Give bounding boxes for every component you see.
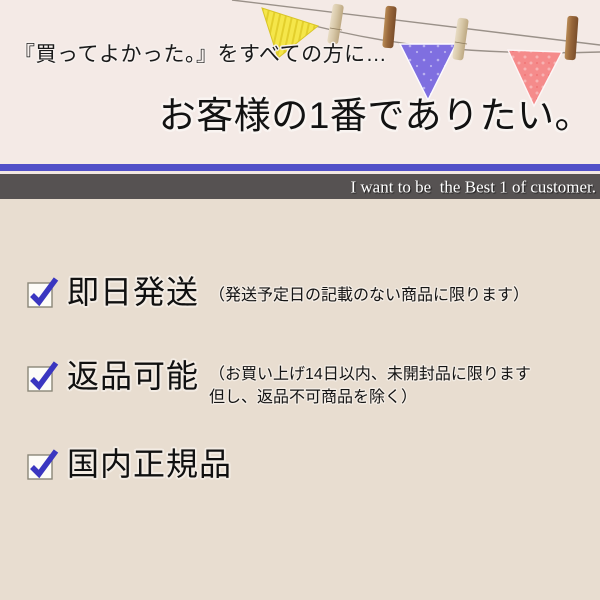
list-item: 即日発送 （発送予定日の記載のない商品に限ります） [28,275,529,311]
policy-label: 国内正規品 [67,447,232,483]
list-item: 返品可能 （お買い上げ14日以内、未開封品に限ります 但し、返品不可商品を除く） [28,359,531,409]
policy-label: 即日発送 [67,275,199,311]
clothespin-icon [327,3,344,44]
hero-banner: 『買ってよかった。』をすべての方に… お客様の1番でありたい。 [0,0,600,164]
policy-label: 返品可能 [67,359,199,395]
checkbox-checked-icon [28,455,54,481]
policy-body: 即日発送 （発送予定日の記載のない商品に限ります） 返品可能 （お買い上げ14日… [0,199,600,600]
list-item: 国内正規品 [28,447,242,483]
list-item-text: 即日発送 （発送予定日の記載のない商品に限ります） [67,275,529,311]
tagline-text: I want to be the Best 1 of customer. [350,178,596,195]
clothespin-icon [452,18,469,61]
hero-headline: お客様の1番でありたい。 [159,97,592,134]
policy-note: （お買い上げ14日以内、未開封品に限ります 但し、返品不可商品を除く） [209,363,531,409]
list-item-text: 返品可能 （お買い上げ14日以内、未開封品に限ります 但し、返品不可商品を除く） [67,359,531,409]
list-item-text: 国内正規品 [67,447,242,483]
tagline-bar: I want to be the Best 1 of customer. [0,174,600,199]
policy-note: （発送予定日の記載のない商品に限ります） [209,284,529,307]
clothespin-icon [564,16,578,61]
accent-bar [0,164,600,171]
hero-subheadline: 『買ってよかった。』をすべての方に… [14,44,387,65]
flag-purple [400,44,456,100]
shop-policy-banner: 『買ってよかった。』をすべての方に… お客様の1番でありたい。 I want t… [0,0,600,600]
checkbox-checked-icon [28,283,54,309]
checkbox-checked-icon [28,367,54,393]
